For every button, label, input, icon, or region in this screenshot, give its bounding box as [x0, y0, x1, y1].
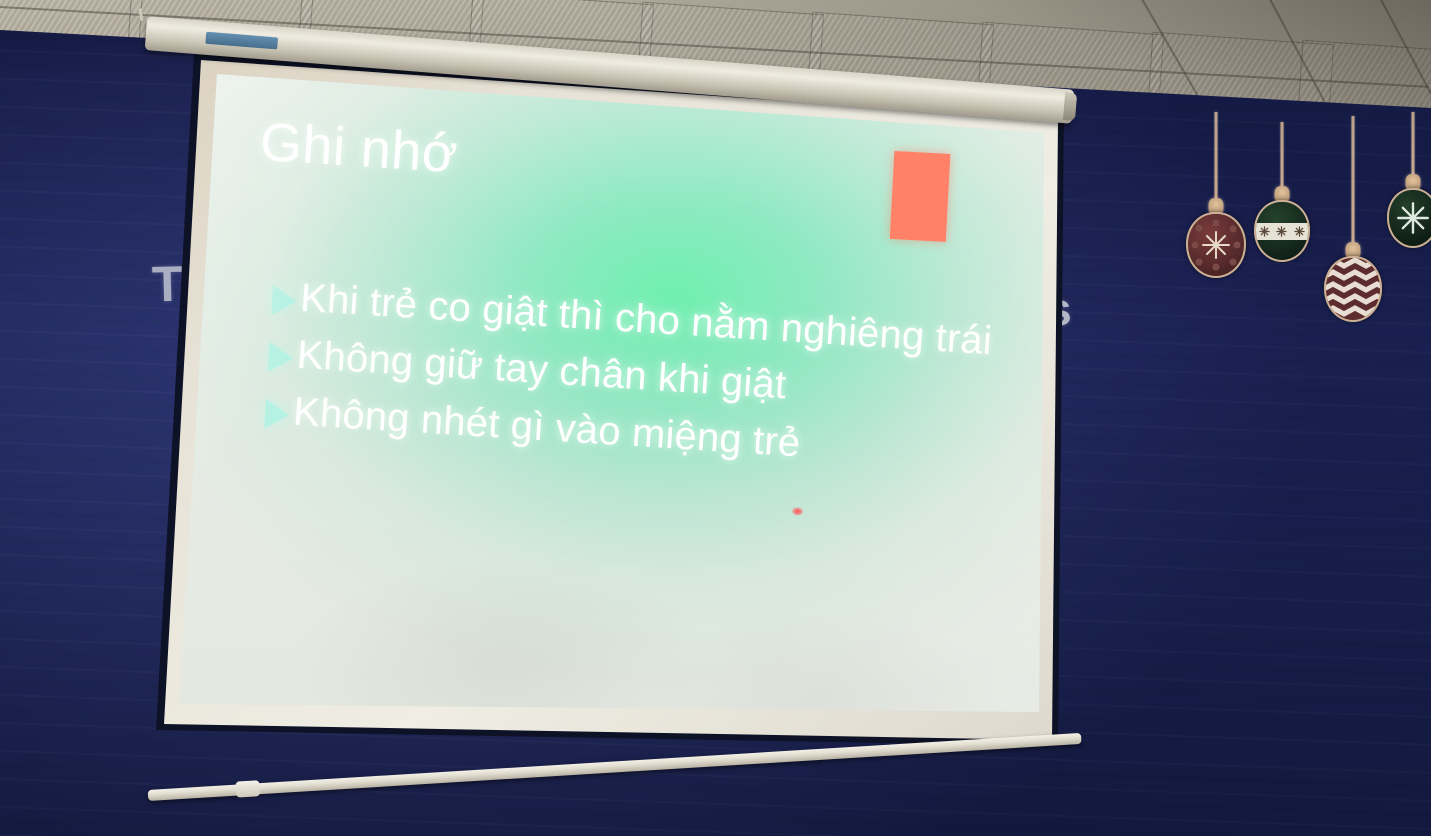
snowflake-icon	[1276, 226, 1287, 237]
ornament-ball	[1186, 212, 1246, 278]
ornament-string	[1352, 116, 1355, 248]
ornament-string	[1215, 112, 1218, 204]
wall-letter-t: T	[151, 255, 183, 314]
ornament-maroon-chevron	[1326, 116, 1380, 316]
ornament-green-snowflake	[1389, 112, 1431, 272]
ornament-string	[1281, 122, 1284, 192]
ornament-ball	[1324, 256, 1382, 322]
ornament-band	[1256, 223, 1308, 240]
room-scene: T s	[0, 0, 1431, 836]
snowflake-icon	[1259, 226, 1270, 237]
ornament-green-band-snowflakes	[1256, 122, 1308, 282]
chevron-pattern	[1326, 258, 1380, 320]
ornament-ball	[1387, 188, 1431, 248]
ornament-maroon-snowflake-dots	[1188, 112, 1244, 282]
snowflake-icon	[1201, 230, 1231, 260]
snowflake-icon	[1294, 226, 1305, 237]
snowflake-icon	[1396, 201, 1430, 235]
wall-letter-s: s	[1046, 282, 1073, 336]
ornament-string	[1412, 112, 1415, 180]
ornament-ball	[1254, 200, 1310, 262]
